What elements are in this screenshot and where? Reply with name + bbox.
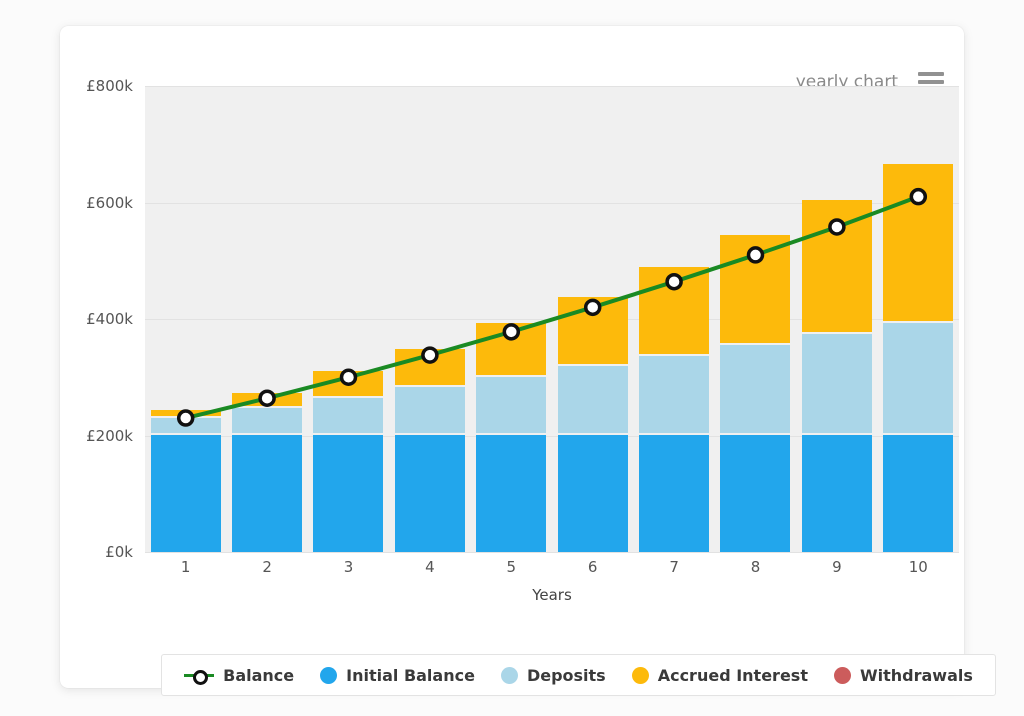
y-axis-tick-label: £0k [105, 543, 133, 561]
legend-label: Initial Balance [346, 666, 475, 685]
bar-segment[interactable] [639, 267, 709, 354]
legend-dot-icon [501, 667, 518, 684]
legend-dot-icon [320, 667, 337, 684]
bar-segment[interactable] [476, 435, 546, 552]
page-root: yearly chart £0k£200k£400k£600k£800k 123… [0, 0, 1024, 716]
plot-area: £0k£200k£400k£600k£800k 12345678910 Year… [145, 86, 959, 552]
x-axis-tick-label: 4 [425, 558, 435, 576]
bar-segment[interactable] [476, 323, 546, 375]
bar-stack[interactable] [476, 321, 546, 552]
bar-stack[interactable] [313, 369, 383, 552]
y-axis-tick-label: £400k [86, 310, 133, 328]
x-axis-tick-label: 7 [669, 558, 679, 576]
gridline [145, 552, 959, 553]
bar-segment[interactable] [395, 387, 465, 433]
bar-stack[interactable] [883, 162, 953, 552]
legend-item[interactable]: Balance [184, 666, 294, 685]
legend-item[interactable]: Deposits [501, 666, 606, 685]
bar-segment[interactable] [639, 435, 709, 552]
x-axis-tick-label: 3 [344, 558, 354, 576]
x-axis-tick-label: 8 [751, 558, 761, 576]
y-axis-tick-label: £800k [86, 77, 133, 95]
legend-line-marker-icon [184, 667, 214, 684]
bar-segment[interactable] [313, 435, 383, 552]
bar-segment[interactable] [476, 377, 546, 433]
legend-item[interactable]: Accrued Interest [632, 666, 808, 685]
bar-segment[interactable] [558, 366, 628, 433]
bar-stack[interactable] [720, 233, 790, 552]
bar-segment[interactable] [883, 323, 953, 433]
bar-segment[interactable] [802, 200, 872, 332]
legend-label: Balance [223, 666, 294, 685]
bar-segment[interactable] [639, 356, 709, 433]
legend-dot-icon [834, 667, 851, 684]
bar-segment[interactable] [395, 435, 465, 552]
x-axis-tick-label: 9 [832, 558, 842, 576]
bar-segment[interactable] [313, 398, 383, 433]
y-axis-tick-label: £200k [86, 427, 133, 445]
bar-stack[interactable] [232, 391, 302, 552]
x-axis-tick-label: 1 [181, 558, 191, 576]
legend-item[interactable]: Initial Balance [320, 666, 475, 685]
chart-legend: BalanceInitial BalanceDepositsAccrued In… [161, 654, 996, 696]
bar-stack[interactable] [151, 408, 221, 552]
x-axis-tick-label: 6 [588, 558, 598, 576]
chart-card: yearly chart £0k£200k£400k£600k£800k 123… [60, 26, 964, 688]
legend-item[interactable]: Withdrawals [834, 666, 973, 685]
bar-segment[interactable] [313, 371, 383, 396]
bar-segment[interactable] [720, 345, 790, 433]
bar-stack[interactable] [802, 198, 872, 552]
bar-stack[interactable] [639, 265, 709, 552]
bar-segment[interactable] [232, 435, 302, 552]
bar-series-layer [145, 86, 959, 552]
bar-segment[interactable] [151, 435, 221, 552]
bar-segment[interactable] [802, 435, 872, 552]
x-axis-title: Years [145, 586, 959, 604]
bar-segment[interactable] [558, 435, 628, 552]
bar-segment[interactable] [232, 408, 302, 433]
legend-label: Deposits [527, 666, 606, 685]
bar-segment[interactable] [151, 418, 221, 433]
x-axis-tick-label: 10 [909, 558, 928, 576]
bar-segment[interactable] [558, 297, 628, 365]
bar-stack[interactable] [395, 347, 465, 552]
y-axis-tick-label: £600k [86, 194, 133, 212]
bar-segment[interactable] [720, 235, 790, 343]
bar-segment[interactable] [802, 334, 872, 433]
bar-segment[interactable] [883, 435, 953, 552]
legend-label: Withdrawals [860, 666, 973, 685]
bar-segment[interactable] [151, 410, 221, 416]
bar-segment[interactable] [883, 164, 953, 322]
x-axis-tick-label: 5 [507, 558, 517, 576]
legend-dot-icon [632, 667, 649, 684]
bar-segment[interactable] [720, 435, 790, 552]
legend-label: Accrued Interest [658, 666, 808, 685]
bar-stack[interactable] [558, 295, 628, 552]
bar-segment[interactable] [232, 393, 302, 406]
x-axis-tick-label: 2 [262, 558, 272, 576]
bar-segment[interactable] [395, 349, 465, 385]
